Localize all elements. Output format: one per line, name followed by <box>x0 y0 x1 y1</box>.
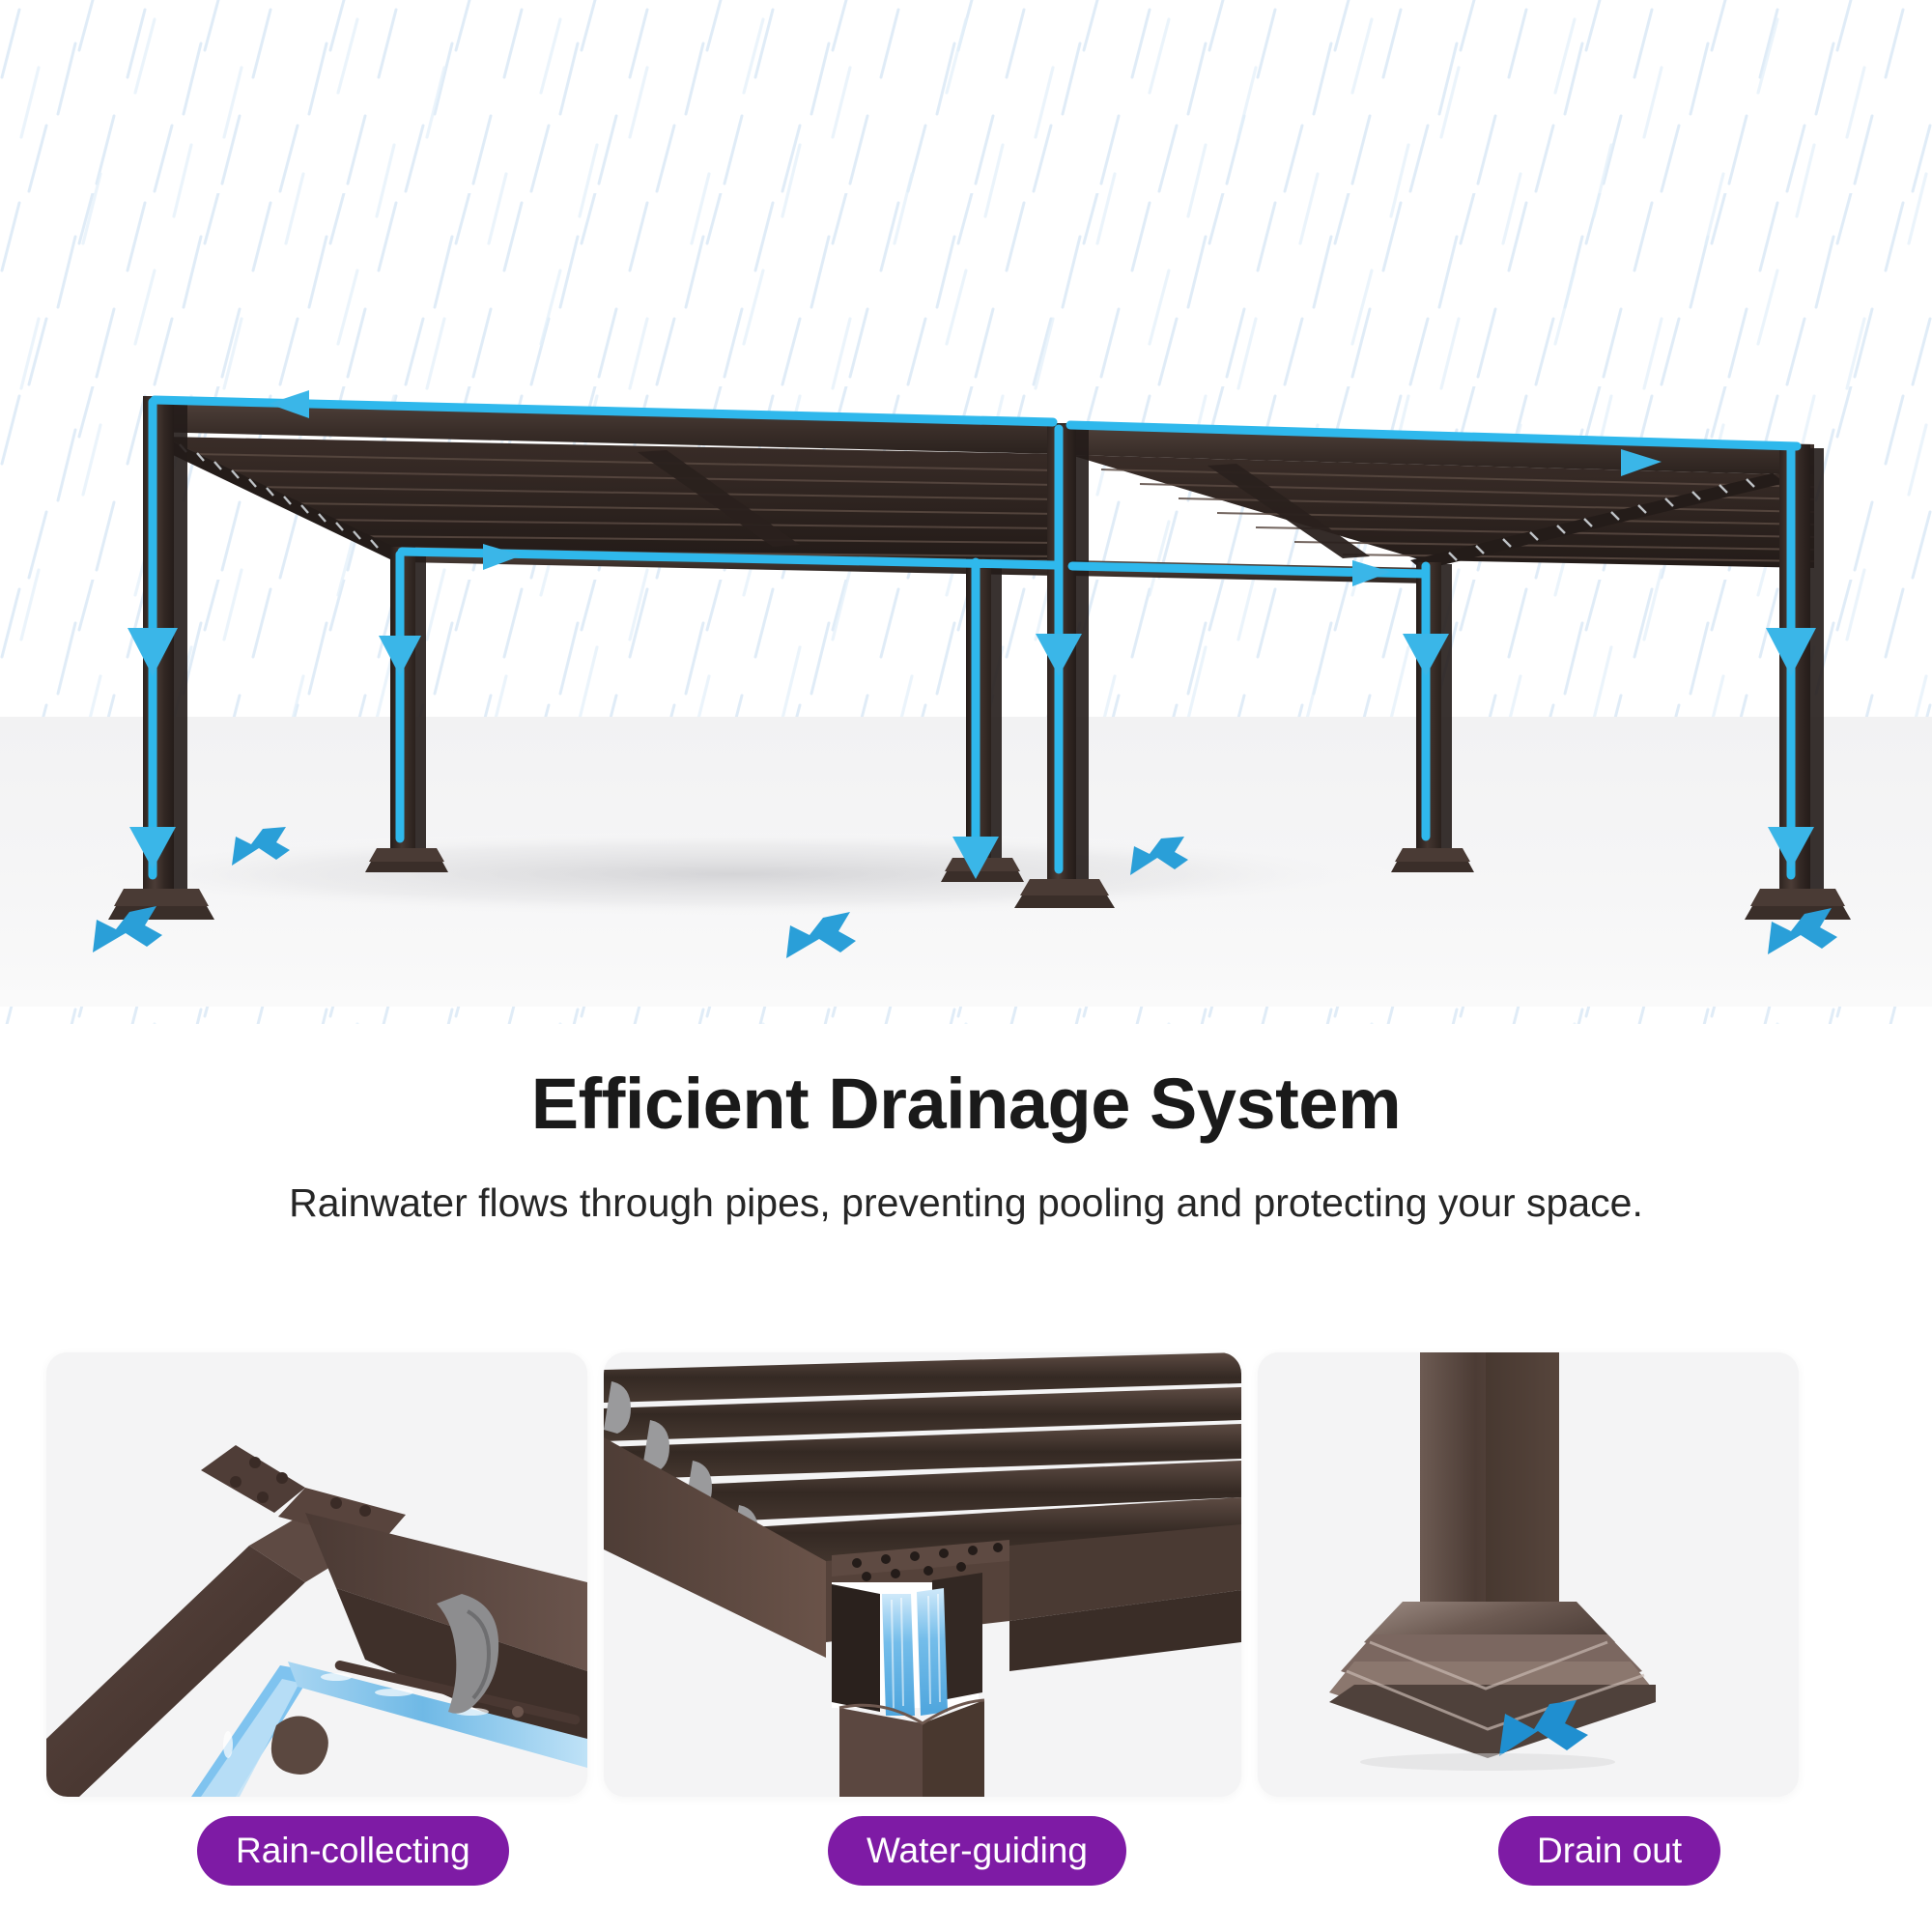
infographic-page: Efficient Drainage System Rainwater flow… <box>0 0 1932 1932</box>
badge-water-guiding[interactable]: Water-guiding <box>828 1816 1126 1886</box>
corner-gutter-channel-with-water <box>46 1352 587 1797</box>
detail-card-drain-out <box>1258 1352 1799 1797</box>
badge-row: Rain-collecting Water-guiding Drain out <box>0 1816 1932 1903</box>
post-base-drain-outlet <box>1258 1352 1799 1797</box>
hero-illustration <box>0 0 1932 1024</box>
badge-drain-out[interactable]: Drain out <box>1498 1816 1720 1886</box>
page-subtitle: Rainwater flows through pipes, preventin… <box>0 1180 1932 1226</box>
louver-beam-downspout-waterfall <box>604 1352 1241 1797</box>
page-title: Efficient Drainage System <box>0 1063 1932 1145</box>
badge-rain-collecting[interactable]: Rain-collecting <box>197 1816 509 1886</box>
detail-card-water-guiding <box>604 1352 1241 1797</box>
detail-card-rain-collecting <box>46 1352 587 1797</box>
pergola-drainage-scene <box>0 0 1932 1024</box>
